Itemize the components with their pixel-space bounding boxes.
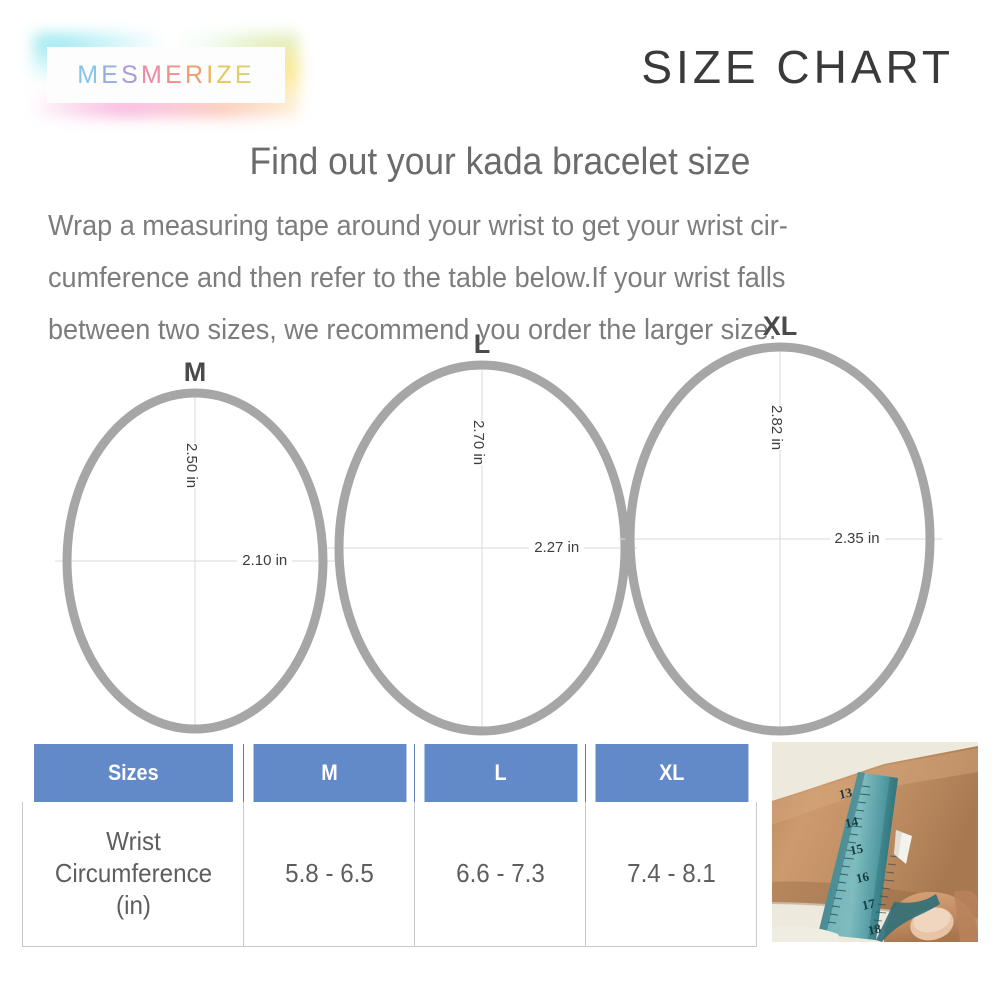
logo-letter-6: I xyxy=(206,63,216,88)
logo-text: MESMERIZE xyxy=(77,63,254,88)
intro-line-2: cumference and then refer to the table b… xyxy=(48,252,909,304)
oval-width-label-m: 2.10 in xyxy=(237,553,292,568)
oval-label-xl: XL xyxy=(740,313,820,340)
cell-l-range: 6.6 - 7.3 xyxy=(420,802,579,947)
oval-diagram-group: M2.10 in2.50 inL2.27 in2.70 inXL2.35 in2… xyxy=(0,340,1000,740)
intro-line-1: Wrap a measuring tape around your wrist … xyxy=(48,200,909,252)
logo-letter-3: M xyxy=(141,63,165,88)
table-header-l: L xyxy=(423,744,577,802)
logo-letter-1: E xyxy=(101,63,121,88)
row-label-line-3: (in) xyxy=(116,890,151,920)
table-header-m: M xyxy=(252,744,406,802)
oval-height-label-xl: 2.82 in xyxy=(764,405,789,450)
logo-letter-0: M xyxy=(77,63,101,88)
wrist-measuring-photo: 13 14 15 16 17 18 xyxy=(772,742,978,942)
size-chart-page: MESMERIZE SIZE CHART Find out your kada … xyxy=(0,0,1000,1000)
oval-height-label-m: 2.50 in xyxy=(179,443,204,488)
row-label-line-1: Wrist xyxy=(106,826,161,856)
table-header-row: Sizes M L XL xyxy=(23,744,757,802)
logo-letter-8: E xyxy=(235,63,255,88)
oval-width-label-l: 2.27 in xyxy=(529,540,584,555)
oval-label-l: L xyxy=(442,331,522,358)
oval-width-label-xl: 2.35 in xyxy=(830,531,885,546)
table-header-xl: XL xyxy=(594,744,748,802)
table-row: Wrist Circumference (in) 5.8 - 6.5 6.6 -… xyxy=(23,802,757,947)
wrist-photo-illustration: 13 14 15 16 17 18 xyxy=(772,742,978,942)
size-table: Sizes M L XL Wrist Circumference (in) 5.… xyxy=(22,744,757,947)
cell-m-range: 5.8 - 6.5 xyxy=(249,802,408,947)
logo-letter-4: E xyxy=(165,63,185,88)
logo-letter-7: Z xyxy=(216,63,234,88)
page-title: SIZE CHART xyxy=(641,44,954,90)
logo-box: MESMERIZE xyxy=(47,47,285,103)
brand-logo: MESMERIZE xyxy=(47,47,285,103)
logo-letter-2: S xyxy=(121,63,141,88)
table-header-sizes: Sizes xyxy=(34,744,233,802)
logo-letter-5: R xyxy=(185,63,206,88)
cell-xl-range: 7.4 - 8.1 xyxy=(591,802,750,947)
oval-height-label-l: 2.70 in xyxy=(466,420,491,465)
row-label-wrist-circumference: Wrist Circumference (in) xyxy=(30,802,236,947)
row-label-line-2: Circumference xyxy=(54,858,211,888)
oval-label-m: M xyxy=(155,359,235,386)
subtitle: Find out your kada bracelet size xyxy=(35,142,965,184)
